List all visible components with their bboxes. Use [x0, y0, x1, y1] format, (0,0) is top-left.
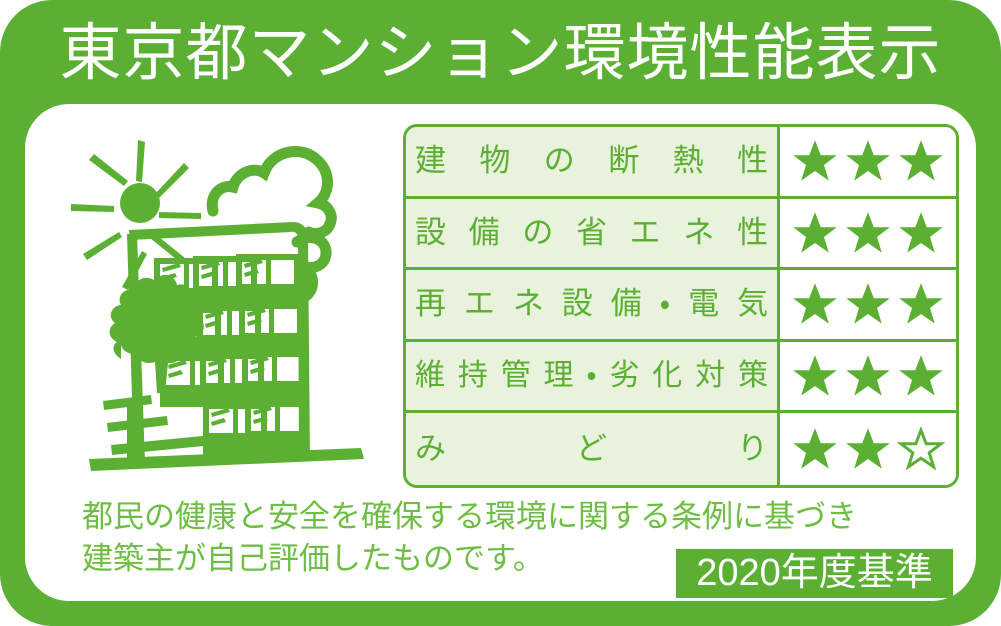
rating-label-text: 建物の断熱性	[415, 145, 768, 178]
rating-label-energy-saving: 設備の省エネ性	[406, 199, 780, 268]
star-filled-icon	[844, 352, 892, 400]
star-filled-icon	[897, 352, 945, 400]
rating-label-text: 設備の省エネ性	[415, 217, 768, 250]
table-row: みどり	[406, 413, 956, 485]
star-filled-icon	[791, 425, 839, 473]
rating-label-text: みどり	[415, 433, 768, 466]
star-filled-icon	[844, 280, 892, 328]
star-filled-icon	[791, 209, 839, 257]
table-row: 建物の断熱性	[406, 127, 956, 199]
star-filled-icon	[844, 209, 892, 257]
page-title: 東京都マンション環境性能表示	[0, 14, 1001, 94]
star-outline-icon	[897, 425, 945, 473]
disclaimer-note: 都民の健康と安全を確保する環境に関する条例に基づき 建築主が自己評価したものです…	[82, 496, 702, 580]
performance-rating-table: 建物の断熱性 設備の省エネ性	[403, 124, 959, 488]
table-row: 設備の省エネ性	[406, 199, 956, 271]
star-filled-icon	[791, 352, 839, 400]
table-row: 再エネ設備・電気	[406, 270, 956, 342]
star-filled-icon	[897, 280, 945, 328]
apartment-building-eco-illustration	[61, 118, 411, 493]
table-row: 維持管理・劣化対策	[406, 342, 956, 414]
star-filled-icon	[791, 280, 839, 328]
star-filled-icon	[897, 137, 945, 185]
balcony-row-4	[203, 404, 309, 455]
star-filled-icon	[897, 209, 945, 257]
balcony-row-3	[160, 354, 306, 407]
rating-label-insulation: 建物の断熱性	[406, 127, 780, 196]
star-filled-icon	[791, 137, 839, 185]
disclaimer-line-1: 都民の健康と安全を確保する環境に関する条例に基づき	[82, 496, 702, 538]
rating-stars-energy-saving	[780, 199, 956, 268]
rating-stars-maintenance	[780, 342, 956, 411]
rating-label-text: 再エネ設備・電気	[415, 288, 768, 321]
rating-label-renewable-energy: 再エネ設備・電気	[406, 270, 780, 339]
rating-stars-renewable-energy	[780, 270, 956, 339]
star-filled-icon	[844, 137, 892, 185]
rating-label-maintenance: 維持管理・劣化対策	[406, 342, 780, 411]
disclaimer-line-2: 建築主が自己評価したものです。	[82, 538, 702, 580]
rating-label-greenery: みどり	[406, 413, 780, 485]
rating-stars-insulation	[780, 127, 956, 196]
rating-stars-greenery	[780, 413, 956, 485]
rating-label-text: 維持管理・劣化対策	[415, 360, 768, 392]
content-panel: 建物の断熱性 設備の省エネ性	[25, 104, 976, 601]
standard-year-badge: 2020年度基準	[676, 549, 953, 598]
star-filled-icon	[844, 425, 892, 473]
environmental-performance-plate: 東京都マンション環境性能表示	[0, 0, 1001, 626]
